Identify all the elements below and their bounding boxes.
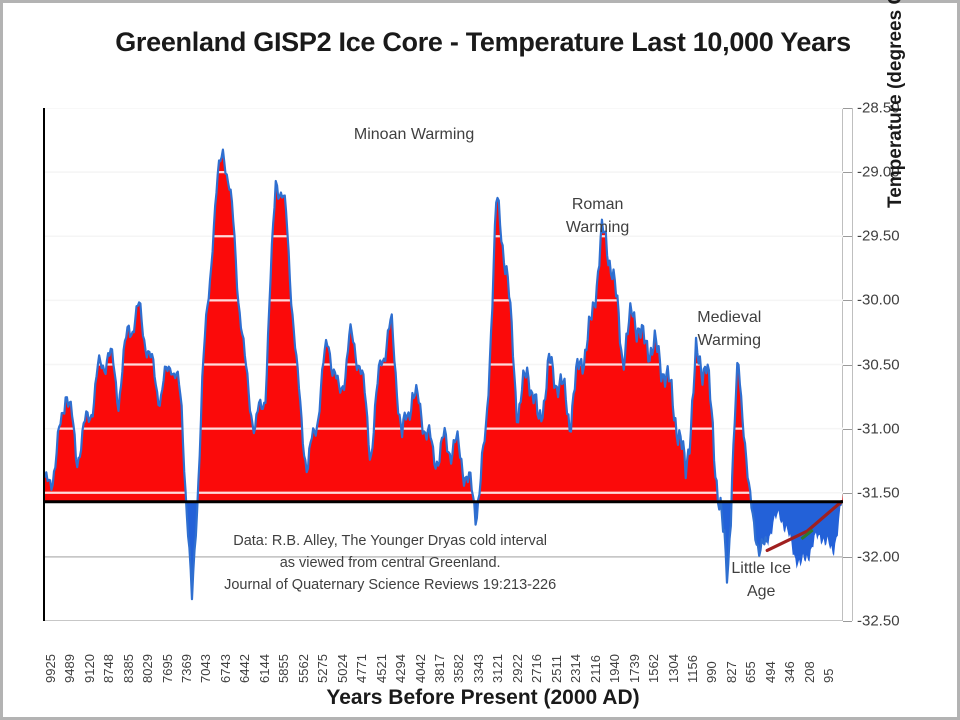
y-axis-tick-label: -30.50 [857,356,900,373]
x-axis-tick-label: 3343 [471,654,486,683]
x-axis-tick-label: 1562 [646,654,661,683]
x-axis-tick-label: 3121 [490,654,505,683]
chart-title: Greenland GISP2 Ice Core - Temperature L… [3,27,960,58]
y-axis-tick-label: -32.00 [857,548,900,565]
y-axis-tick [843,108,852,109]
x-axis-tick-label: 2314 [568,654,583,683]
x-axis-tick-label: 9120 [82,654,97,683]
x-axis-tick-label: 4042 [413,654,428,683]
y-axis-tick [843,429,852,430]
x-axis-tick-label: 8385 [121,654,136,683]
x-axis-tick-label: 4294 [393,654,408,683]
x-axis-tick-label: 1739 [627,654,642,683]
x-axis-tick-label: 6144 [257,654,272,683]
x-axis-tick-label: 827 [724,661,739,683]
source-citation: Data: R.B. Alley, The Younger Dryas cold… [224,531,556,596]
x-axis-tick-label: 3582 [451,654,466,683]
x-axis-tick-label: 5275 [315,654,330,683]
x-axis-tick-label: 208 [802,661,817,683]
x-axis-tick-label: 1156 [685,655,700,683]
y-axis-tick [843,493,852,494]
x-axis-tick-label: 5855 [276,654,291,683]
y-axis-tick-label: -32.50 [857,613,900,630]
y-axis-tick [843,557,852,558]
annotation-medieval-warming: Medieval Warming [697,306,761,352]
x-axis-tick-label: 2511 [549,655,564,683]
y-axis-tick [843,300,852,301]
chart-image-frame: Greenland GISP2 Ice Core - Temperature L… [0,0,960,720]
y-axis-tick-label: -30.00 [857,292,900,309]
x-axis-tick-label: 8748 [101,654,116,683]
y-axis-tick [843,236,852,237]
x-axis-tick-label: 3817 [432,654,447,683]
y-axis-tick [843,365,852,366]
y-axis-tick-label: -31.50 [857,484,900,501]
x-axis-tick-label: 2116 [588,655,603,683]
x-axis-tick-label: 1304 [666,654,681,683]
x-axis-tick-label: 9489 [62,654,77,683]
x-axis-tick-label: 494 [763,661,778,683]
x-axis-tick-label: 8029 [140,654,155,683]
x-axis-tick-label: 5562 [296,654,311,683]
y-axis-tick-label: -29.50 [857,228,900,245]
x-axis-tick-label: 990 [704,661,719,683]
x-axis-tick-label: 7369 [179,654,194,683]
y-axis-title: Temperature (degrees C) [885,0,907,208]
annotation-minoan-warming: Minoan Warming [354,123,474,146]
x-axis-tick-label: 1940 [607,654,622,683]
x-axis-tick-label: 6442 [237,654,252,683]
x-axis-tick-label: 9925 [43,654,58,683]
annotation-roman-warming: Roman Warming [566,193,629,239]
y-axis-tick [843,621,852,622]
x-axis-tick-label: 5024 [335,654,350,683]
x-axis-tick-label: 6743 [218,654,233,683]
x-axis-tick-label: 2922 [510,654,525,683]
x-axis-tick-label: 7695 [160,654,175,683]
x-axis-tick-label: 2716 [529,654,544,683]
x-axis-tick-label: 346 [782,661,797,683]
x-axis-tick-label: 4521 [374,654,389,683]
x-axis-labels: 9925948991208748838580297695736970436743… [43,625,843,683]
x-axis-tick-label: 95 [821,669,836,683]
x-axis-tick-label: 4771 [354,654,369,683]
x-axis-title: Years Before Present (2000 AD) [3,686,960,710]
y-axis-tick [843,172,852,173]
x-axis-tick-label: 7043 [198,654,213,683]
y-axis-tick-label: -31.00 [857,420,900,437]
annotation-little-ice-age: Little Ice Age [731,557,791,603]
x-axis-tick-label: 655 [743,661,758,683]
